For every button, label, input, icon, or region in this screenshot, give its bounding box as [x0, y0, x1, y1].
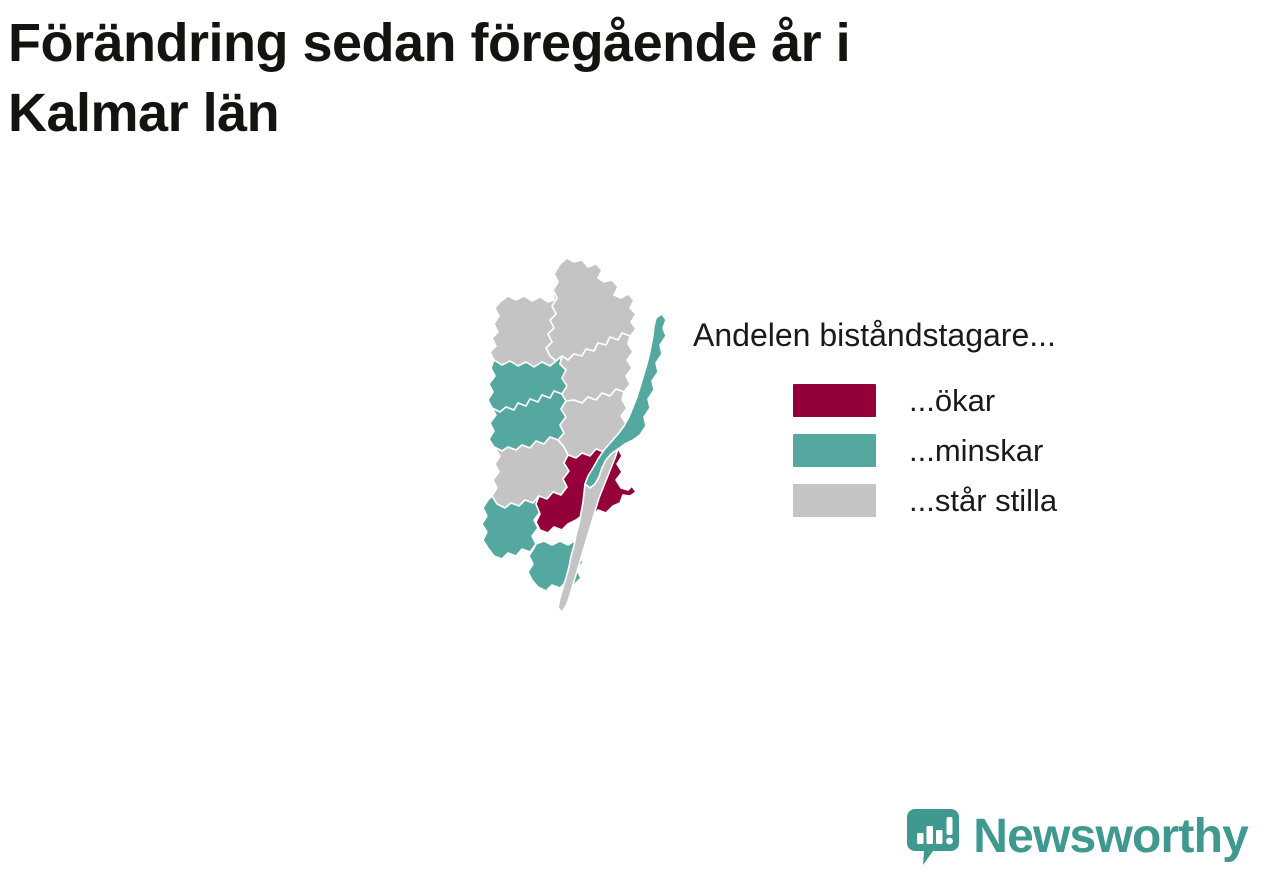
legend-label-decrease: ...minskar — [909, 435, 1043, 466]
legend-label-increase: ...ökar — [909, 385, 995, 416]
legend-swatch-decrease — [793, 434, 876, 467]
kalmar-lan-map — [470, 250, 685, 630]
legend-item-decrease[interactable]: ...minskar — [793, 425, 1233, 475]
legend-item-unchanged[interactable]: ...står stilla — [793, 475, 1233, 525]
legend-item-increase[interactable]: ...ökar — [793, 375, 1233, 425]
legend-swatch-increase — [793, 384, 876, 417]
map-container — [470, 250, 685, 630]
newsworthy-logo-icon — [907, 809, 959, 865]
legend-swatch-unchanged — [793, 484, 876, 517]
legend: Andelen biståndstagare... ...ökar ...min… — [693, 318, 1233, 525]
page-title: Förändring sedan föregående år i Kalmar … — [8, 8, 1108, 148]
legend-title: Andelen biståndstagare... — [693, 318, 1233, 353]
choropleth-figure: Andelen biståndstagare... ...ökar ...min… — [0, 180, 1262, 650]
footer-branding: Newsworthy — [907, 803, 1248, 871]
newsworthy-wordmark: Newsworthy — [973, 813, 1248, 861]
legend-label-unchanged: ...står stilla — [909, 485, 1057, 516]
map-area-emmaboda[interactable] — [482, 496, 540, 559]
